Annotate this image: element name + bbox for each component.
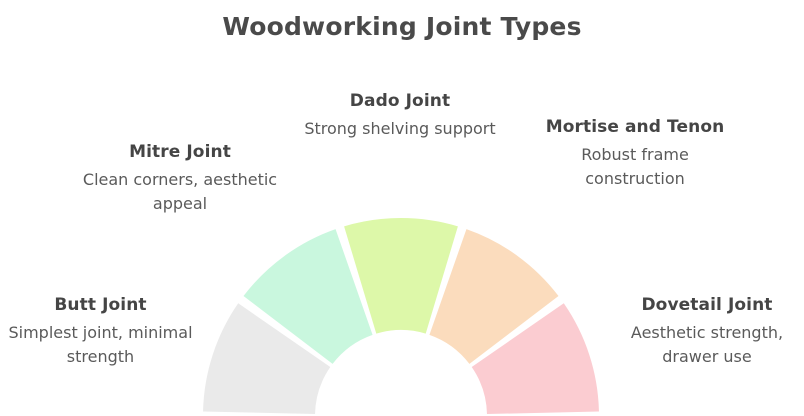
donut-slice-group xyxy=(203,218,599,414)
segment-desc-mortise-and-tenon: Robust frame construction xyxy=(530,143,740,191)
segment-label-dado-joint: Dado Joint Strong shelving support xyxy=(296,90,504,141)
segment-desc-butt-joint: Simplest joint, minimal strength xyxy=(8,321,193,369)
chart-canvas: Woodworking Joint Types Butt Joint Simpl… xyxy=(0,0,804,416)
segment-desc-dovetail-joint: Aesthetic strength, drawer use xyxy=(612,321,802,369)
segment-desc-dado-joint: Strong shelving support xyxy=(296,117,504,141)
segment-title-mitre-joint: Mitre Joint xyxy=(82,141,278,164)
segment-title-dovetail-joint: Dovetail Joint xyxy=(612,294,802,317)
segment-desc-mitre-joint: Clean corners, aesthetic appeal xyxy=(82,168,278,216)
segment-label-butt-joint: Butt Joint Simplest joint, minimal stren… xyxy=(8,294,193,369)
segment-label-mortise-and-tenon: Mortise and Tenon Robust frame construct… xyxy=(530,116,740,191)
segment-title-butt-joint: Butt Joint xyxy=(8,294,193,317)
segment-label-mitre-joint: Mitre Joint Clean corners, aesthetic app… xyxy=(82,141,278,216)
segment-label-dovetail-joint: Dovetail Joint Aesthetic strength, drawe… xyxy=(612,294,802,369)
segment-title-mortise-and-tenon: Mortise and Tenon xyxy=(530,116,740,139)
segment-title-dado-joint: Dado Joint xyxy=(296,90,504,113)
